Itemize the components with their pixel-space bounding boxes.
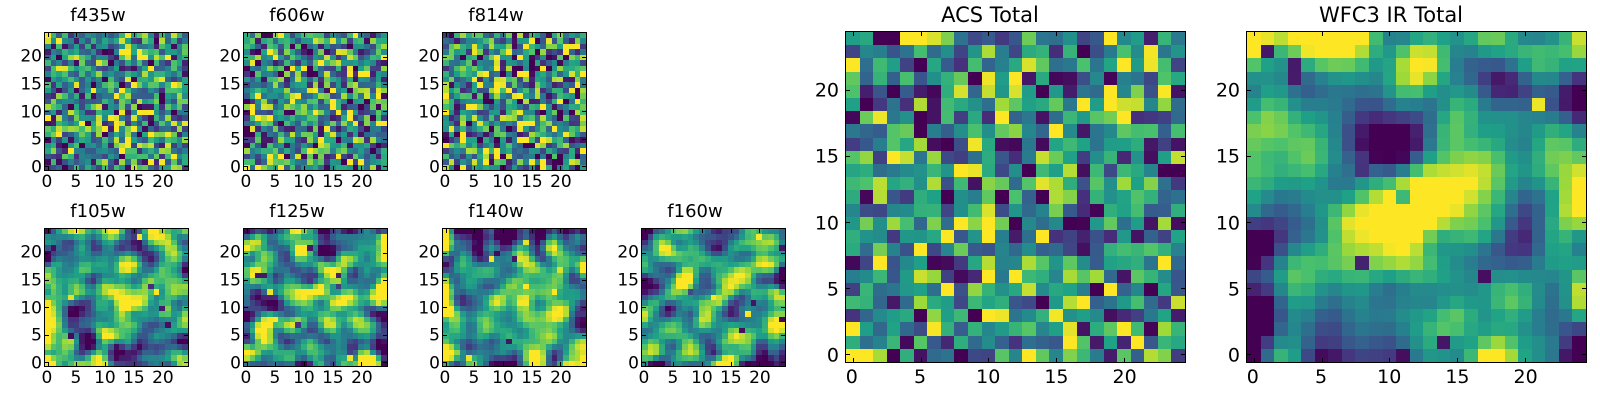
y-tick-label: 20 [418,245,440,262]
x-tick-mark [702,362,703,366]
x-tick-label: 0 [41,370,52,387]
y-tick-label: 15 [20,272,42,289]
x-tick-mark [759,362,760,366]
x-tick-label: 10 [492,370,514,387]
x-tick-mark [645,229,646,233]
y-tick-mark [1181,90,1185,91]
x-tick-mark [988,32,989,36]
x-tick-mark [1525,32,1526,36]
y-tick-mark [781,307,785,308]
x-tick-mark [1124,358,1125,362]
x-tick-label: 15 [322,370,344,387]
y-tick-mark [244,166,248,167]
y-tick-mark [184,139,188,140]
x-tick-mark [76,229,77,233]
y-tick-mark [1582,288,1586,289]
y-tick-mark [582,84,586,85]
panel-f606w: f606w0510152005101520 [199,4,395,200]
y-tick-label: 10 [20,300,42,317]
x-tick-mark [134,229,135,233]
x-tick-mark [853,358,854,362]
x-tick-mark [134,362,135,366]
x-tick-label: 0 [439,370,450,387]
y-tick-label: 5 [827,280,839,299]
x-tick-mark [1525,358,1526,362]
x-tick-mark [921,32,922,36]
y-tick-label: 20 [617,245,639,262]
y-tick-label: 15 [617,272,639,289]
y-tick-mark [45,57,49,58]
panel-acs: ACS Total0510152005101520 [790,0,1190,400]
y-tick-mark [443,280,447,281]
x-tick-mark [48,229,49,233]
y-tick-label: 15 [1216,148,1240,167]
x-tick-label: 20 [351,370,373,387]
y-tick-mark [443,57,447,58]
x-tick-mark [731,229,732,233]
y-tick-mark [244,57,248,58]
y-tick-mark [443,111,447,112]
y-tick-label: 10 [1216,214,1240,233]
y-tick-label: 20 [20,49,42,66]
y-tick-mark [781,280,785,281]
y-tick-mark [846,354,850,355]
x-tick-mark [474,362,475,366]
y-tick-mark [642,280,646,281]
y-tick-mark [184,253,188,254]
heatmap-image-f814w [443,33,586,170]
x-tick-label: 0 [439,174,450,191]
y-tick-mark [383,111,387,112]
y-tick-mark [443,166,447,167]
y-tick-mark [1247,354,1251,355]
x-tick-label: 20 [550,174,572,191]
x-tick-label: 5 [269,370,280,387]
y-tick-mark [582,253,586,254]
x-tick-mark [1322,358,1323,362]
x-tick-mark [162,229,163,233]
x-tick-mark [333,362,334,366]
y-tick-mark [1247,90,1251,91]
x-tick-mark [1389,32,1390,36]
y-tick-mark [184,280,188,281]
x-tick-label: 10 [976,368,1000,387]
x-tick-mark [532,362,533,366]
y-tick-label: 0 [827,347,839,366]
heatmap-image-f435w [45,33,188,170]
x-tick-label: 5 [468,174,479,191]
y-tick-label: 10 [219,300,241,317]
y-tick-mark [45,139,49,140]
x-tick-label: 20 [351,174,373,191]
y-tick-label: 10 [418,300,440,317]
y-tick-mark [846,90,850,91]
y-tick-mark [383,280,387,281]
y-tick-label: 10 [815,214,839,233]
x-tick-label: 20 [1113,368,1137,387]
y-tick-label: 10 [219,104,241,121]
panel-wfc3: WFC3 IR Total0510152005101520 [1191,0,1591,400]
x-tick-mark [503,33,504,37]
x-tick-label: 5 [70,370,81,387]
x-tick-mark [474,229,475,233]
y-tick-mark [642,253,646,254]
x-tick-label: 20 [550,370,572,387]
y-tick-label: 20 [1216,81,1240,100]
heatmap-image-acs [846,32,1185,362]
x-tick-mark [304,229,305,233]
y-tick-label: 20 [219,49,241,66]
y-tick-mark [244,253,248,254]
x-tick-mark [1322,32,1323,36]
panel-title-f125w: f125w [199,203,395,221]
heatmap-axes-f125w [243,228,388,367]
heatmap-axes-f606w [243,32,388,171]
x-tick-label: 15 [123,174,145,191]
x-tick-label: 5 [468,370,479,387]
y-tick-mark [184,57,188,58]
y-tick-mark [383,307,387,308]
y-tick-label: 15 [219,76,241,93]
y-tick-mark [1181,156,1185,157]
x-tick-label: 20 [152,370,174,387]
y-tick-mark [1582,222,1586,223]
y-tick-label: 5 [429,328,440,345]
x-tick-mark [1457,358,1458,362]
x-tick-mark [560,362,561,366]
y-tick-mark [642,362,646,363]
panel-f814w: f814w0510152005101520 [398,4,594,200]
x-tick-mark [1254,358,1255,362]
x-tick-label: 10 [293,174,315,191]
x-tick-mark [560,229,561,233]
heatmap-axes-wfc3 [1246,31,1587,363]
x-tick-label: 0 [1247,368,1259,387]
y-tick-label: 5 [31,328,42,345]
y-tick-mark [443,139,447,140]
y-tick-mark [45,280,49,281]
y-tick-label: 0 [628,356,639,373]
y-tick-mark [582,280,586,281]
x-tick-mark [988,358,989,362]
x-tick-mark [76,33,77,37]
x-tick-mark [105,362,106,366]
y-tick-mark [383,139,387,140]
heatmap-image-wfc3 [1247,32,1586,362]
x-tick-mark [446,229,447,233]
heatmap-image-f140w [443,229,586,366]
y-tick-mark [244,280,248,281]
x-tick-mark [1389,358,1390,362]
y-tick-mark [244,84,248,85]
x-tick-mark [474,33,475,37]
y-tick-label: 15 [219,272,241,289]
heatmap-image-f105w [45,229,188,366]
x-tick-mark [446,33,447,37]
x-tick-mark [162,166,163,170]
y-tick-mark [383,362,387,363]
x-tick-mark [1254,32,1255,36]
x-tick-label: 5 [1315,368,1327,387]
x-tick-mark [304,362,305,366]
x-tick-mark [162,362,163,366]
panel-f160w: f160w0510152005101520 [597,200,793,396]
y-tick-label: 0 [1228,347,1240,366]
y-tick-mark [582,166,586,167]
x-tick-mark [532,229,533,233]
x-tick-mark [673,362,674,366]
x-tick-mark [247,33,248,37]
y-tick-mark [846,222,850,223]
x-tick-mark [304,33,305,37]
y-tick-mark [582,57,586,58]
x-tick-mark [134,33,135,37]
y-tick-label: 5 [1228,280,1240,299]
y-tick-mark [184,111,188,112]
y-tick-label: 20 [219,245,241,262]
x-tick-mark [48,33,49,37]
heatmap-axes-acs [845,31,1186,363]
y-tick-mark [846,156,850,157]
x-tick-mark [759,229,760,233]
y-tick-mark [642,307,646,308]
x-tick-label: 15 [1445,368,1469,387]
y-tick-mark [184,335,188,336]
y-tick-mark [1181,288,1185,289]
x-tick-label: 0 [846,368,858,387]
y-tick-mark [1247,222,1251,223]
y-tick-mark [244,139,248,140]
x-tick-label: 10 [94,174,116,191]
y-tick-label: 20 [418,49,440,66]
x-tick-mark [503,362,504,366]
heatmap-axes-f814w [442,32,587,171]
heatmap-image-f160w [642,229,785,366]
panel-f105w: f105w0510152005101520 [0,200,196,396]
y-tick-mark [443,253,447,254]
y-tick-label: 5 [429,132,440,149]
y-tick-label: 0 [31,160,42,177]
y-tick-mark [383,335,387,336]
x-tick-mark [275,166,276,170]
x-tick-mark [105,166,106,170]
x-tick-label: 15 [1044,368,1068,387]
x-tick-label: 10 [492,174,514,191]
y-tick-label: 10 [20,104,42,121]
y-tick-label: 5 [31,132,42,149]
x-tick-mark [333,33,334,37]
heatmap-axes-f105w [44,228,189,367]
x-tick-mark [503,166,504,170]
x-tick-mark [247,229,248,233]
x-tick-mark [361,362,362,366]
y-tick-label: 5 [628,328,639,345]
x-tick-mark [1056,32,1057,36]
x-tick-label: 20 [1514,368,1538,387]
y-tick-mark [383,84,387,85]
x-tick-mark [921,358,922,362]
y-tick-mark [582,307,586,308]
x-tick-mark [333,229,334,233]
y-tick-mark [582,139,586,140]
y-tick-mark [45,307,49,308]
x-tick-mark [275,33,276,37]
y-tick-label: 10 [617,300,639,317]
y-tick-mark [184,362,188,363]
panel-f125w: f125w0510152005101520 [199,200,395,396]
y-tick-mark [781,253,785,254]
x-tick-label: 0 [240,370,251,387]
x-tick-label: 10 [1377,368,1401,387]
x-tick-mark [560,33,561,37]
x-tick-mark [76,362,77,366]
x-tick-mark [1124,32,1125,36]
y-tick-mark [1181,354,1185,355]
y-tick-mark [1247,156,1251,157]
y-tick-mark [45,166,49,167]
y-tick-mark [582,111,586,112]
panel-title-f435w: f435w [0,7,196,25]
y-tick-mark [244,362,248,363]
y-tick-mark [184,84,188,85]
x-tick-mark [853,32,854,36]
y-tick-label: 0 [230,356,241,373]
x-tick-mark [105,33,106,37]
y-tick-mark [244,335,248,336]
x-tick-mark [134,166,135,170]
y-tick-mark [45,335,49,336]
x-tick-label: 15 [322,174,344,191]
y-tick-mark [781,335,785,336]
y-tick-label: 15 [418,76,440,93]
x-tick-label: 5 [667,370,678,387]
x-tick-label: 10 [293,370,315,387]
heatmap-image-f606w [244,33,387,170]
y-tick-mark [443,362,447,363]
figure-canvas: f435w0510152005101520f606w05101520051015… [0,0,1600,400]
heatmap-axes-f160w [641,228,786,367]
x-tick-label: 5 [70,174,81,191]
panel-f140w: f140w0510152005101520 [398,200,594,396]
y-tick-mark [642,335,646,336]
x-tick-mark [361,33,362,37]
y-tick-mark [383,253,387,254]
panel-title-f606w: f606w [199,7,395,25]
panel-title-f814w: f814w [398,7,594,25]
x-tick-label: 0 [240,174,251,191]
x-tick-label: 20 [749,370,771,387]
y-tick-mark [846,288,850,289]
y-tick-label: 15 [20,76,42,93]
y-tick-label: 15 [418,272,440,289]
x-tick-mark [673,229,674,233]
y-tick-mark [582,362,586,363]
x-tick-mark [1457,32,1458,36]
y-tick-label: 0 [31,356,42,373]
x-tick-mark [532,33,533,37]
panel-title-f105w: f105w [0,203,196,221]
y-tick-mark [244,307,248,308]
x-tick-label: 0 [638,370,649,387]
y-tick-mark [443,335,447,336]
x-tick-mark [731,362,732,366]
y-tick-label: 0 [429,356,440,373]
y-tick-mark [45,253,49,254]
y-tick-mark [1582,156,1586,157]
y-tick-label: 15 [815,148,839,167]
x-tick-mark [361,166,362,170]
y-tick-label: 0 [429,160,440,177]
panel-title-acs: ACS Total [790,5,1190,26]
x-tick-label: 10 [691,370,713,387]
x-tick-mark [105,229,106,233]
y-tick-label: 20 [815,81,839,100]
x-tick-label: 5 [914,368,926,387]
panel-f435w: f435w0510152005101520 [0,4,196,200]
x-tick-mark [76,166,77,170]
x-tick-mark [275,362,276,366]
x-tick-label: 15 [123,370,145,387]
y-tick-mark [45,111,49,112]
x-tick-mark [361,229,362,233]
x-tick-mark [560,166,561,170]
panel-title-f160w: f160w [597,203,793,221]
x-tick-label: 15 [521,174,543,191]
x-tick-label: 15 [521,370,543,387]
y-tick-label: 5 [230,328,241,345]
y-tick-mark [1582,90,1586,91]
y-tick-mark [383,57,387,58]
x-tick-mark [275,229,276,233]
x-tick-mark [532,166,533,170]
y-tick-label: 5 [230,132,241,149]
x-tick-mark [503,229,504,233]
heatmap-axes-f140w [442,228,587,367]
x-tick-label: 20 [152,174,174,191]
y-tick-mark [184,166,188,167]
panel-title-wfc3: WFC3 IR Total [1191,5,1591,26]
x-tick-label: 10 [94,370,116,387]
x-tick-mark [333,166,334,170]
y-tick-label: 10 [418,104,440,121]
y-tick-mark [781,362,785,363]
y-tick-mark [1181,222,1185,223]
y-tick-mark [383,166,387,167]
y-tick-mark [45,362,49,363]
y-tick-mark [582,335,586,336]
y-tick-mark [1247,288,1251,289]
y-tick-mark [184,307,188,308]
x-tick-label: 15 [720,370,742,387]
y-tick-label: 0 [230,160,241,177]
heatmap-image-f125w [244,229,387,366]
y-tick-mark [1582,354,1586,355]
x-tick-mark [162,33,163,37]
y-tick-mark [443,84,447,85]
x-tick-mark [1056,358,1057,362]
x-tick-label: 5 [269,174,280,191]
y-tick-mark [443,307,447,308]
x-tick-mark [702,229,703,233]
heatmap-axes-f435w [44,32,189,171]
panel-title-f140w: f140w [398,203,594,221]
x-tick-mark [304,166,305,170]
y-tick-mark [244,111,248,112]
y-tick-label: 20 [20,245,42,262]
x-tick-mark [474,166,475,170]
y-tick-mark [45,84,49,85]
x-tick-label: 0 [41,174,52,191]
